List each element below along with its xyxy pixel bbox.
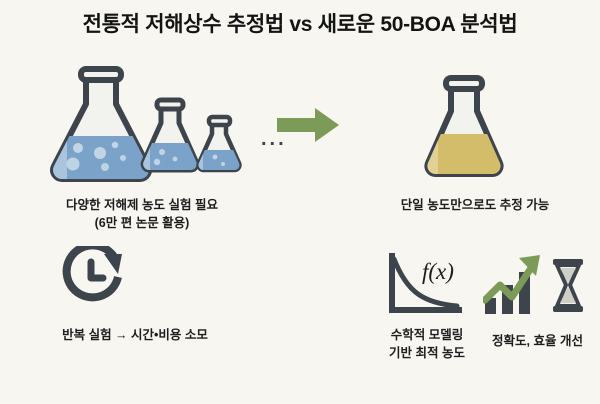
hourglass-icon	[547, 258, 589, 314]
left-flask-caption: 다양한 저해제 농도 실험 필요 (6만 편 논문 활용)	[22, 196, 262, 232]
accuracy-efficiency-caption: 정확도, 효율 개선	[480, 332, 595, 350]
right-arrow-icon	[275, 105, 341, 145]
repeat-experiment-caption: 반복 실험 → 시간•비용 소모	[10, 326, 260, 344]
single-flask-illustration	[420, 70, 508, 180]
right-flask-caption: 단일 농도만으로도 추정 가능	[360, 196, 590, 214]
function-label: f(x)	[422, 259, 454, 284]
multi-flask-illustration	[45, 60, 260, 185]
page-title: 전통적 저해상수 추정법 vs 새로운 50-BOA 분석법	[0, 12, 600, 38]
math-modeling-caption: 수학적 모델링 기반 최적 농도	[372, 326, 482, 362]
growth-bar-chart	[483, 252, 545, 316]
decay-curve-chart: f(x)	[385, 252, 465, 318]
repeat-clock-icon	[60, 246, 128, 310]
flask-small	[193, 117, 248, 178]
infographic-canvas: 전통적 저해상수 추정법 vs 새로운 50-BOA 분석법	[0, 0, 600, 404]
